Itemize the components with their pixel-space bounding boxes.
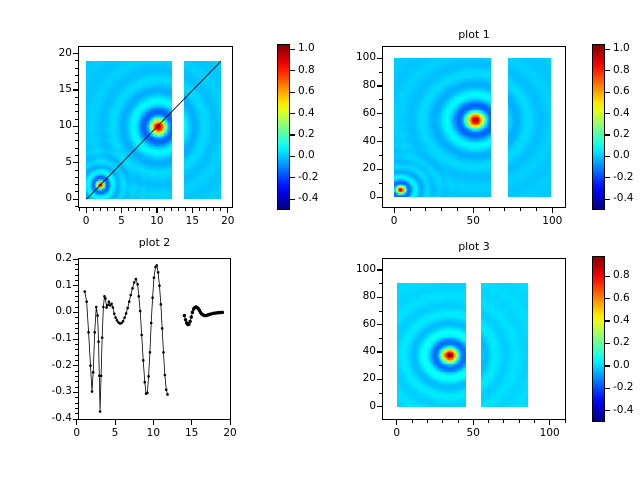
panel-bottom-right-ytick-minor [379,406,382,407]
panel-bottom-right-xticklabel: 100 [530,427,570,439]
panel-bottom-right-ytick-minor [379,379,382,380]
panel-bottom-right-xtick-minor [519,420,520,423]
panel-bottom-right-cbar-tick [605,343,610,344]
panel-bottom-right-ytick-minor [379,352,382,353]
panel-bottom-right-cbar-ticklabel: -0.2 [613,381,634,393]
figure-canvas: 05101520051015201.00.80.60.40.20.0-0.2-0… [0,0,640,480]
panel-bottom-right-cbar-tick [605,410,610,411]
panel-bottom-right-xtick-minor [534,420,535,423]
panel-bottom-right-cbar-ticklabel: 0.2 [613,336,630,348]
panel-bottom-right-ytick-minor [379,297,382,298]
panel-bottom-right-axes [382,258,566,420]
panel-bottom-right-yticklabel: 100 [334,263,376,275]
panel-bottom-right-title: plot 3 [382,240,566,253]
panel-bottom-right-xticklabel: 50 [453,427,493,439]
panel-bottom-right-xtick-minor [503,420,504,423]
panel-bottom-right-ytick-minor [379,365,382,366]
panel-bottom-right-cbar-tick [605,276,610,277]
panel-bottom-right-patch-0 [397,283,466,407]
panel-bottom-right-yticklabel: 80 [334,290,376,302]
panel-bottom-right-ytick-minor [379,393,382,394]
panel-bottom-right-cbar-ticklabel: 0.4 [613,314,630,326]
panel-bottom-right-cbar-tick [605,298,610,299]
panel-bottom-right-xtick-minor [458,420,459,423]
panel-bottom-right-cbar-ticklabel: 0.0 [613,359,630,371]
panel-bottom-right-xtick-minor [427,420,428,423]
panel-bottom-right-colorbar-gradient [593,257,604,421]
panel-bottom-right-yticklabel: 20 [334,372,376,384]
panel-bottom-right-cbar-tick [605,320,610,321]
panel-bottom-right-yticklabel: 40 [334,345,376,357]
panel-bottom-right-yticklabel: 60 [334,318,376,330]
panel-bottom-right-cbar-ticklabel: -0.4 [613,404,634,416]
panel-bottom-right-xtick-minor [412,420,413,423]
panel-bottom-right-cbar-ticklabel: 0.6 [613,292,630,304]
panel-bottom-right-field [397,283,466,407]
panel-bottom-right-cbar-tick [605,388,610,389]
panel-bottom-right: plot 30204060801000501000.80.60.40.20.0-… [0,0,640,480]
panel-bottom-right-yticklabel: 0 [334,400,376,412]
panel-bottom-right-ytick-minor [379,324,382,325]
panel-bottom-right-ytick-minor [379,283,382,284]
panel-bottom-right-xticklabel: 0 [377,427,417,439]
panel-bottom-right-field [481,283,528,407]
panel-bottom-right-xtick-minor [565,420,566,423]
panel-bottom-right-ytick-minor [379,311,382,312]
panel-bottom-right-ytick-minor [379,270,382,271]
panel-bottom-right-xtick-minor [488,420,489,423]
panel-bottom-right-ytick-minor [379,338,382,339]
panel-bottom-right-colorbar [592,256,605,422]
panel-bottom-right-cbar-tick [605,365,610,366]
panel-bottom-right-patch-1 [481,283,528,407]
panel-bottom-right-xtick-minor [442,420,443,423]
panel-bottom-right-cbar-ticklabel: 0.8 [613,269,630,281]
panel-bottom-right-xtick-minor [549,420,550,423]
panel-bottom-right-xtick-minor [473,420,474,423]
panel-bottom-right-xtick-minor [396,420,397,423]
